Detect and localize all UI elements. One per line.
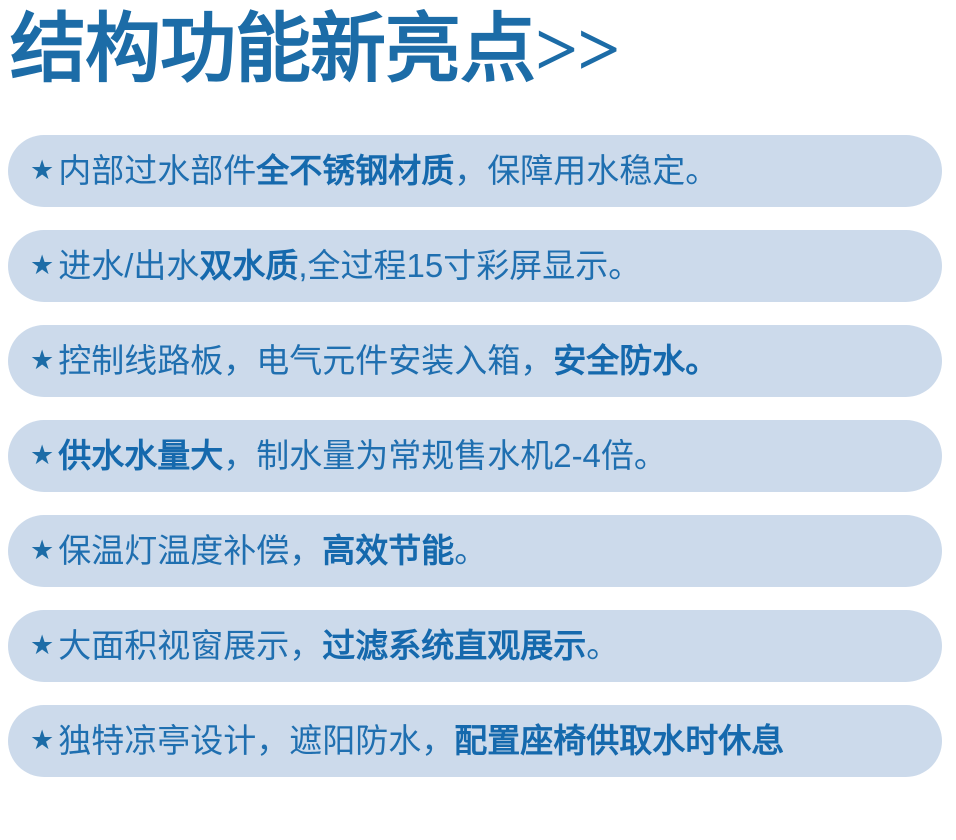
poster-page: 结构功能新亮点>> ★内部过水部件全不锈钢材质，保障用水稳定。★进水/出水双水质… — [0, 0, 956, 840]
feature-text-emphasis: 过滤系统直观展示 — [322, 627, 586, 664]
feature-text: 大面积视窗展示，过滤系统直观展示。 — [58, 626, 914, 666]
feature-text-plain: ，制水量为常规售水机2-4倍。 — [223, 437, 667, 474]
feature-text-plain: 保温灯温度补偿， — [58, 532, 322, 569]
feature-text: 供水水量大，制水量为常规售水机2-4倍。 — [58, 436, 914, 476]
feature-text: 内部过水部件全不锈钢材质，保障用水稳定。 — [58, 151, 914, 191]
star-icon: ★ — [30, 157, 54, 184]
feature-list: ★内部过水部件全不锈钢材质，保障用水稳定。★进水/出水双水质,全过程15寸彩屏显… — [0, 135, 956, 777]
star-icon: ★ — [30, 537, 54, 564]
star-icon: ★ — [30, 252, 54, 279]
feature-pill: ★进水/出水双水质,全过程15寸彩屏显示。 — [8, 230, 942, 302]
feature-text: 独特凉亭设计，遮阳防水，配置座椅供取水时休息 — [58, 721, 914, 761]
feature-pill: ★大面积视窗展示，过滤系统直观展示。 — [8, 610, 942, 682]
feature-text-emphasis: 安全防水。 — [553, 342, 718, 379]
feature-pill: ★保温灯温度补偿，高效节能。 — [8, 515, 942, 587]
star-icon: ★ — [30, 727, 54, 754]
feature-text-plain: 控制线路板，电气元件安装入箱， — [58, 342, 553, 379]
feature-text-plain: 进水/出水 — [58, 247, 199, 284]
feature-text-plain: 。 — [586, 627, 619, 664]
feature-pill: ★供水水量大，制水量为常规售水机2-4倍。 — [8, 420, 942, 492]
feature-text-plain: 。 — [454, 532, 487, 569]
star-icon: ★ — [30, 347, 54, 374]
feature-text: 保温灯温度补偿，高效节能。 — [58, 531, 914, 571]
feature-text-emphasis: 高效节能 — [322, 532, 454, 569]
star-icon: ★ — [30, 442, 54, 469]
feature-text: 进水/出水双水质,全过程15寸彩屏显示。 — [58, 246, 914, 286]
feature-text-emphasis: 配置座椅供取水时休息 — [454, 722, 784, 759]
feature-pill: ★控制线路板，电气元件安装入箱，安全防水。 — [8, 325, 942, 397]
feature-text-plain: 独特凉亭设计，遮阳防水， — [58, 722, 454, 759]
star-icon: ★ — [30, 632, 54, 659]
feature-text-plain: 内部过水部件 — [58, 152, 256, 189]
feature-text-emphasis: 双水质 — [199, 247, 298, 284]
feature-pill: ★独特凉亭设计，遮阳防水，配置座椅供取水时休息 — [8, 705, 942, 777]
page-title: 结构功能新亮点>> — [10, 2, 620, 98]
feature-text-emphasis: 全不锈钢材质 — [256, 152, 454, 189]
feature-pill: ★内部过水部件全不锈钢材质，保障用水稳定。 — [8, 135, 942, 207]
feature-text-emphasis: 供水水量大 — [58, 437, 223, 474]
feature-text-plain: ，保障用水稳定。 — [454, 152, 718, 189]
feature-text-plain: 大面积视窗展示， — [58, 627, 322, 664]
feature-text-plain: ,全过程15寸彩屏显示。 — [298, 247, 641, 284]
feature-text: 控制线路板，电气元件安装入箱，安全防水。 — [58, 341, 914, 381]
